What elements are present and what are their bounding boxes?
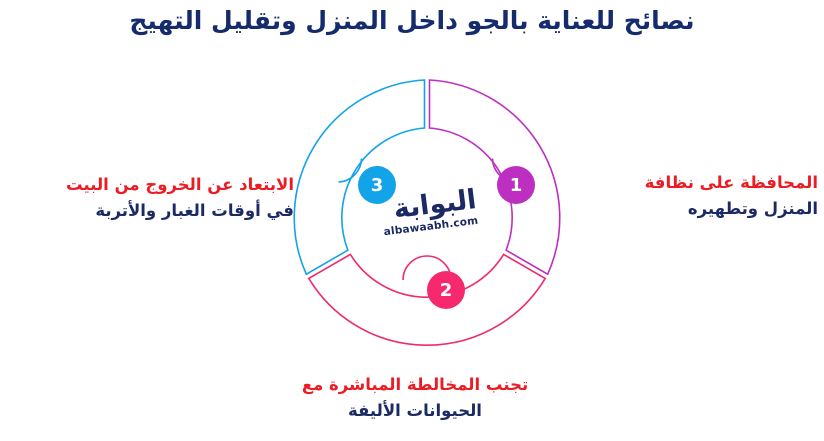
callout-right-line1: المحافظة على نظافة <box>604 170 818 196</box>
donut-segment-2[interactable] <box>309 254 545 345</box>
callout-right: المحافظة على نظافة المنزل وتطهيره <box>604 170 818 222</box>
callout-bottom-line2: الحيوانات الأليفة <box>272 398 558 424</box>
callout-bottom: تجنب المخالطة المباشرة مع الحيوانات الأل… <box>272 372 558 424</box>
callout-left: الابتعاد عن الخروج من البيت في أوقات الغ… <box>6 172 294 224</box>
callout-bottom-line1: تجنب المخالطة المباشرة مع <box>272 372 558 398</box>
page-title: نصائح للعناية بالجو داخل المنزل وتقليل ا… <box>0 4 824 38</box>
infographic-canvas: نصائح للعناية بالجو داخل المنزل وتقليل ا… <box>0 0 824 441</box>
callout-left-line1: الابتعاد عن الخروج من البيت <box>6 172 294 198</box>
segment-badge-3[interactable]: 3 <box>358 166 396 204</box>
callout-right-line2: المنزل وتطهيره <box>604 196 818 222</box>
segment-badge-2[interactable]: 2 <box>427 271 465 309</box>
callout-left-line2: في أوقات الغبار والأتربة <box>6 198 294 224</box>
segment-badge-1[interactable]: 1 <box>497 166 535 204</box>
